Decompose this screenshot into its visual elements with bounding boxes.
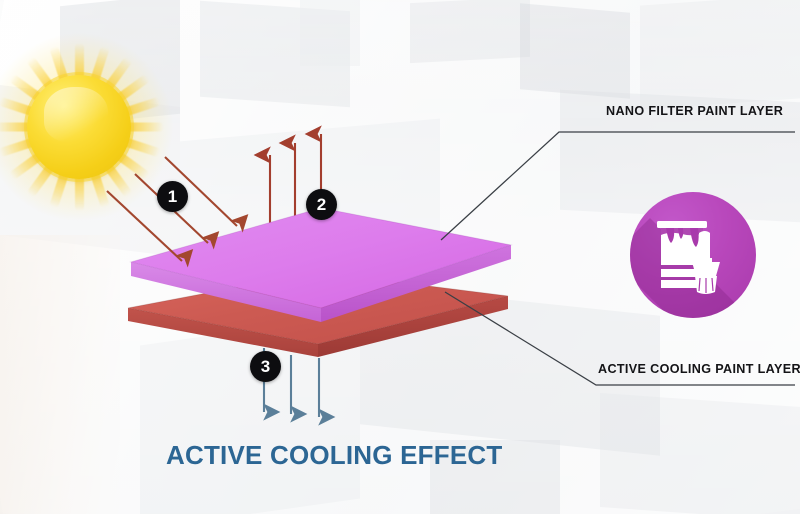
badge-3[interactable]: 3	[250, 351, 281, 382]
diagram-title: ACTIVE COOLING EFFECT	[166, 440, 502, 471]
paint-can-brush-glyph	[630, 192, 756, 318]
badge-3-number: 3	[261, 358, 270, 375]
badge-2-number: 2	[317, 196, 326, 213]
paint-can-brush-icon[interactable]	[630, 192, 756, 318]
badge-1-number: 1	[168, 188, 177, 205]
badge-1[interactable]: 1	[157, 181, 188, 212]
label-active-cooling-paint-layer: ACTIVE COOLING PAINT LAYER	[598, 362, 800, 376]
badge-2[interactable]: 2	[306, 189, 337, 220]
diagram-canvas: 1 2 3	[0, 0, 800, 514]
label-nano-filter-paint-layer: NANO FILTER PAINT LAYER	[606, 104, 783, 118]
